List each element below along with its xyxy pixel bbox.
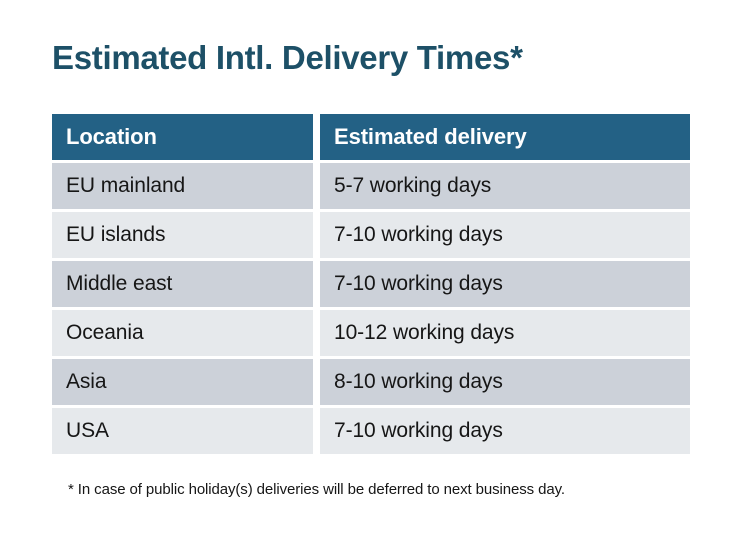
cell-delivery: 7-10 working days bbox=[320, 261, 690, 307]
cell-location: Oceania bbox=[52, 310, 313, 356]
cell-delivery: 10-12 working days bbox=[320, 310, 690, 356]
delivery-times-table: Location Estimated delivery EU mainland … bbox=[52, 114, 690, 454]
cell-location: EU mainland bbox=[52, 163, 313, 209]
table-header-row: Location Estimated delivery bbox=[52, 114, 690, 160]
cell-delivery: 8-10 working days bbox=[320, 359, 690, 405]
cell-delivery: 7-10 working days bbox=[320, 212, 690, 258]
cell-location: EU islands bbox=[52, 212, 313, 258]
column-header-estimated-delivery: Estimated delivery bbox=[320, 114, 690, 160]
footnote-text: * In case of public holiday(s) deliverie… bbox=[68, 480, 565, 500]
table-row: EU islands 7-10 working days bbox=[52, 212, 690, 258]
column-header-location: Location bbox=[52, 114, 313, 160]
table-row: Middle east 7-10 working days bbox=[52, 261, 690, 307]
cell-delivery: 5-7 working days bbox=[320, 163, 690, 209]
cell-delivery: 7-10 working days bbox=[320, 408, 690, 454]
table-row: Oceania 10-12 working days bbox=[52, 310, 690, 356]
page-title: Estimated Intl. Delivery Times* bbox=[52, 37, 523, 79]
cell-location: Middle east bbox=[52, 261, 313, 307]
table-row: USA 7-10 working days bbox=[52, 408, 690, 454]
delivery-times-page: Estimated Intl. Delivery Times* Location… bbox=[0, 0, 745, 536]
cell-location: USA bbox=[52, 408, 313, 454]
table-row: Asia 8-10 working days bbox=[52, 359, 690, 405]
cell-location: Asia bbox=[52, 359, 313, 405]
table-row: EU mainland 5-7 working days bbox=[52, 163, 690, 209]
